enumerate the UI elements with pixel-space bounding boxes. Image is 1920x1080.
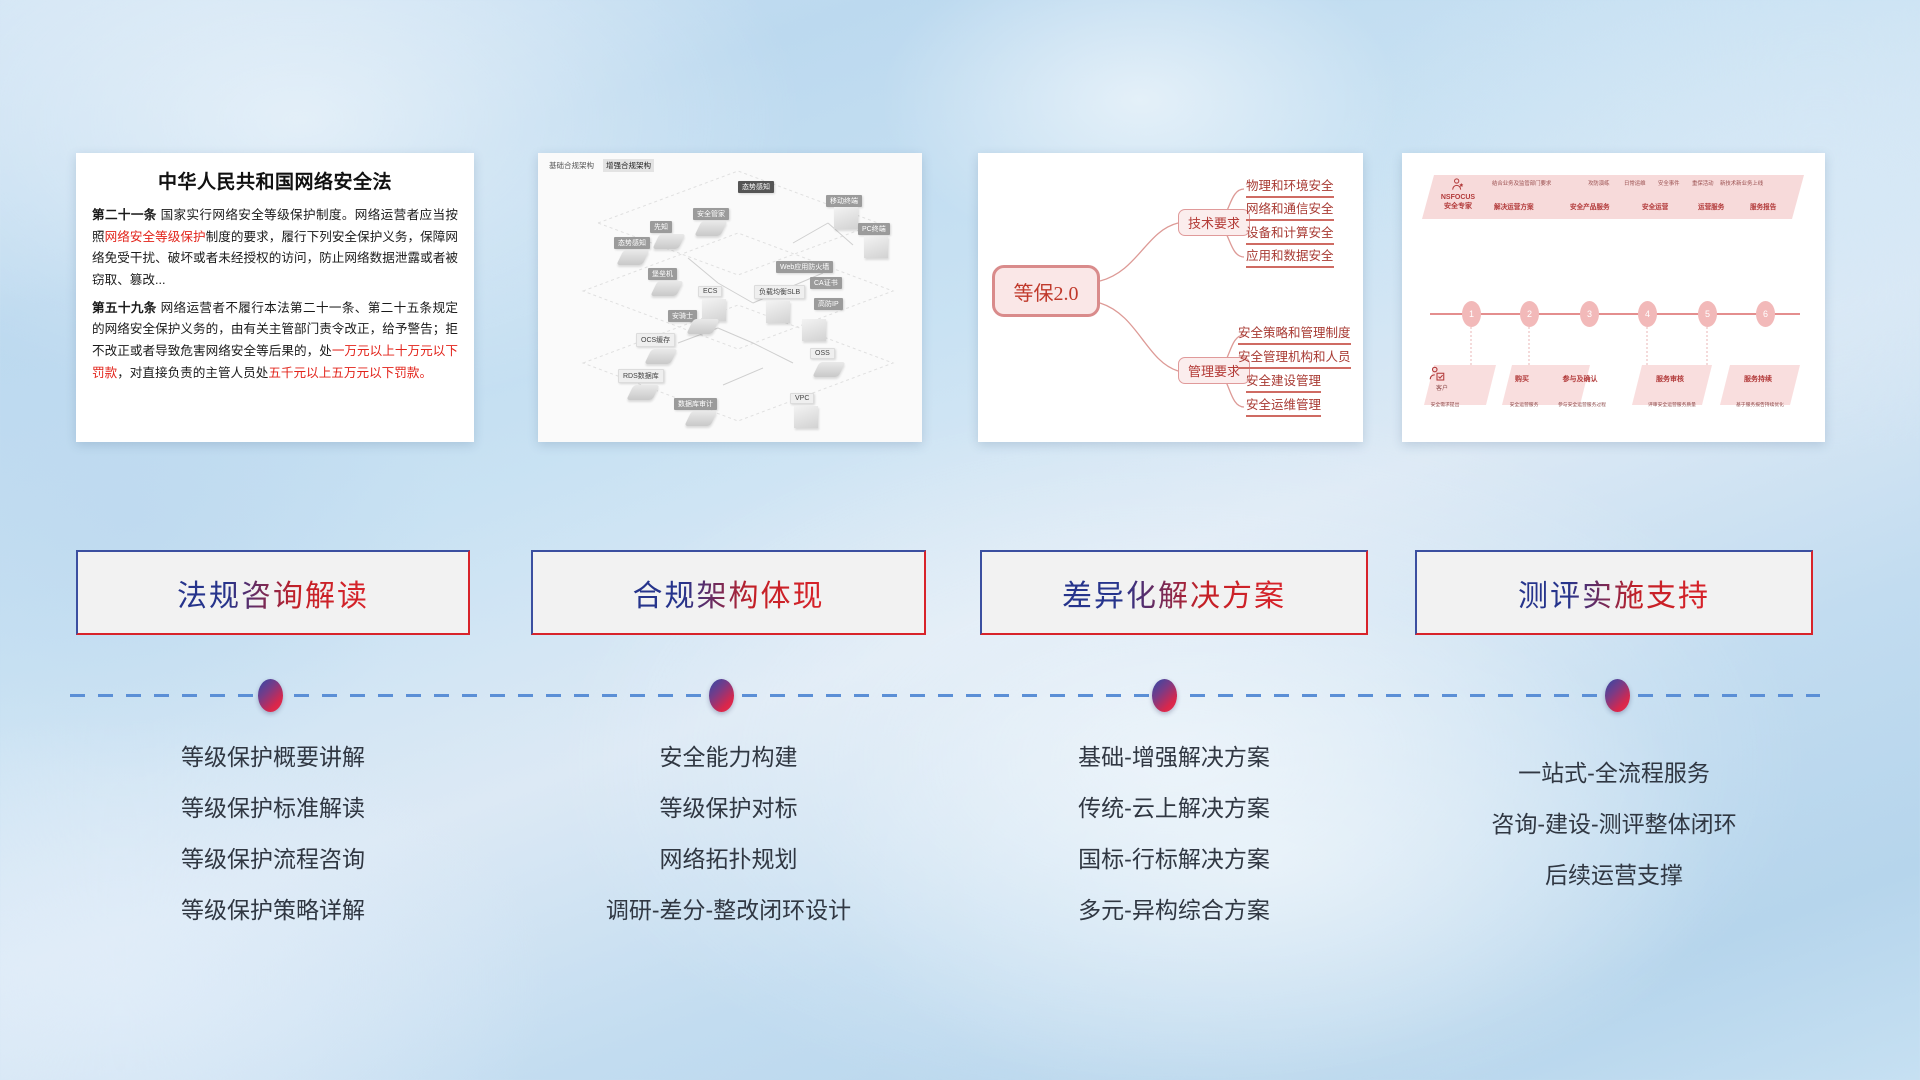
section-title-box-4[interactable]: 测评实施支持	[1415, 550, 1813, 635]
nsfocus-footer-sub: 基于服务报告持续优化	[1720, 403, 1800, 410]
mindmap-root-node: 等保2.0	[992, 265, 1100, 317]
nsfocus-footer-shape	[1720, 365, 1800, 405]
arch-node-shape	[864, 236, 888, 258]
arch-node-label: Web应用防火墙	[776, 261, 833, 273]
section-item: 等级保护对标	[531, 797, 926, 820]
article-59-text-b: ，对直接负责的主管人员处	[117, 366, 268, 380]
nsfocus-footer-sub: 安全需求提出	[1412, 403, 1478, 410]
mindmap-leaf: 设备和计算安全	[1246, 222, 1334, 245]
section-items-3: 基础-增强解决方案 传统-云上解决方案 国标-行标解决方案 多元-异构综合方案	[980, 746, 1368, 950]
arch-node-shape	[702, 299, 726, 321]
section-title-label: 法规咨询解读	[177, 571, 369, 615]
section-title-box-1[interactable]: 法规咨询解读	[76, 550, 470, 635]
mindmap-leaf: 安全建设管理	[1246, 370, 1321, 393]
arch-node-label: 移动终端	[826, 195, 862, 207]
card-architecture-diagram: 基础合规架构 增强合规架构 态势感知 安全管家	[538, 153, 922, 442]
section-items-1: 等级保护概要讲解 等级保护标准解读 等级保护流程咨询 等级保护策略详解	[76, 746, 470, 950]
arch-node-label: 高防IP	[814, 298, 843, 310]
arch-node-label: PC终端	[858, 223, 890, 235]
article-59-label: 第五十九条	[92, 301, 157, 315]
arch-node-label: RDS数据库	[618, 369, 664, 383]
section-item: 网络拓扑规划	[531, 848, 926, 871]
section-item: 后续运营支撑	[1415, 864, 1813, 887]
section-item: 多元-异构综合方案	[980, 899, 1368, 922]
section-item: 国标-行标解决方案	[980, 848, 1368, 871]
arch-node-label: 先知	[650, 221, 672, 233]
section-item: 基础-增强解决方案	[980, 746, 1368, 769]
arch-node-label: 安全管家	[693, 208, 729, 220]
mindmap-leaf: 物理和环境安全	[1246, 175, 1334, 198]
mindmap-branch-technical: 技术要求	[1178, 209, 1250, 236]
law-title: 中华人民共和国网络安全法	[92, 167, 458, 194]
section-item: 安全能力构建	[531, 746, 926, 769]
law-document-body: 中华人民共和国网络安全法 第二十一条 国家实行网络安全等级保护制度。网络运营者应…	[76, 153, 474, 394]
arch-node-shape	[766, 301, 790, 323]
mindmap-leaf: 网络和通信安全	[1246, 198, 1334, 221]
architecture-canvas: 基础合规架构 增强合规架构 态势感知 安全管家	[538, 153, 922, 442]
article-21-highlight: 网络安全等级保护	[105, 230, 206, 244]
arch-node-label: 堡垒机	[648, 268, 677, 280]
timeline-marker-4	[1605, 679, 1630, 712]
section-item: 调研-差分-整改闭环设计	[531, 899, 926, 922]
nsfocus-footer-shape	[1632, 365, 1712, 405]
arch-node-label: OCS缓存	[636, 333, 675, 347]
nsfocus-footer-title: 服务审核	[1642, 375, 1698, 385]
section-item: 等级保护流程咨询	[76, 848, 470, 871]
nsfocus-canvas: NSFOCUS 安全专家 结合业务及监管部门要求 攻防演练 日常运维 安全事件 …	[1402, 153, 1825, 442]
section-item: 一站式-全流程服务	[1415, 762, 1813, 785]
section-item: 等级保护概要讲解	[76, 746, 470, 769]
section-item: 等级保护策略详解	[76, 899, 470, 922]
section-title-label: 测评实施支持	[1518, 571, 1710, 615]
slide-stage: 中华人民共和国网络安全法 第二十一条 国家实行网络安全等级保护制度。网络运营者应…	[0, 0, 1920, 1080]
article-21-label: 第二十一条	[92, 208, 157, 222]
arch-node-label: 态势感知	[614, 237, 650, 249]
arch-node-label: ECS	[698, 286, 722, 297]
nsfocus-footer-title: 购买	[1502, 375, 1542, 385]
arch-node-label: CA证书	[810, 277, 842, 289]
section-item: 咨询-建设-测评整体闭环	[1415, 813, 1813, 836]
section-item: 等级保护标准解读	[76, 797, 470, 820]
arch-node-shape	[802, 319, 826, 341]
law-article-21: 第二十一条 国家实行网络安全等级保护制度。网络运营者应当按照网络安全等级保护制度…	[92, 205, 458, 292]
section-items-4: 一站式-全流程服务 咨询-建设-测评整体闭环 后续运营支撑	[1415, 762, 1813, 915]
arch-node-label: VPC	[790, 393, 814, 404]
arch-node-shape	[834, 207, 858, 229]
section-title-box-3[interactable]: 差异化解决方案	[980, 550, 1368, 635]
card-law-document: 中华人民共和国网络安全法 第二十一条 国家实行网络安全等级保护制度。网络运营者应…	[76, 153, 474, 442]
mindmap-leaf: 安全运维管理	[1246, 394, 1321, 417]
section-title-box-2[interactable]: 合规架构体现	[531, 550, 926, 635]
mindmap-canvas: 等保2.0 技术要求 管理要求 物理和环境安全 网络和通信安全 设备和计算安全 …	[978, 153, 1363, 442]
architecture-planes-svg	[538, 153, 922, 442]
card-nsfocus-timeline: NSFOCUS 安全专家 结合业务及监管部门要求 攻防演练 日常运维 安全事件 …	[1402, 153, 1825, 442]
user-check-icon	[1428, 365, 1446, 383]
section-items-2: 安全能力构建 等级保护对标 网络拓扑规划 调研-差分-整改闭环设计	[531, 746, 926, 950]
arch-node-label: 数据库审计	[674, 398, 717, 410]
arch-node-label: 负载均衡SLB	[754, 285, 805, 299]
section-title-label: 合规架构体现	[633, 571, 825, 615]
section-title-label: 差异化解决方案	[1062, 571, 1286, 615]
law-article-59: 第五十九条 网络运营者不履行本法第二十一条、第二十五条规定的网络安全保护义务的，…	[92, 298, 458, 385]
nsfocus-footer-sub: 评审安全运营服务质量	[1632, 403, 1712, 410]
card-mindmap: 等保2.0 技术要求 管理要求 物理和环境安全 网络和通信安全 设备和计算安全 …	[978, 153, 1363, 442]
nsfocus-footer-sub: 参与安全运营服务过程	[1542, 403, 1622, 410]
nsfocus-footer-title: 服务持续	[1730, 375, 1786, 385]
timeline-dashed-line	[70, 694, 1820, 697]
article-59-highlight-2: 五千元以上五万元以下罚款。	[268, 366, 432, 380]
mindmap-leaf: 应用和数据安全	[1246, 245, 1334, 268]
arch-node-label: OSS	[810, 348, 835, 359]
nsfocus-footer-title: 参与及确认	[1550, 375, 1610, 385]
mindmap-leaf: 安全策略和管理制度	[1238, 322, 1351, 345]
nsfocus-footer-title: 客户	[1422, 385, 1462, 393]
mindmap-leaf: 安全管理机构和人员	[1238, 346, 1351, 369]
section-item: 传统-云上解决方案	[980, 797, 1368, 820]
timeline-marker-3	[1152, 679, 1177, 712]
timeline-marker-1	[258, 679, 283, 712]
arch-node-label: 态势感知	[738, 181, 774, 193]
arch-node-shape	[794, 406, 818, 428]
timeline-marker-2	[709, 679, 734, 712]
nsfocus-footer-shape	[1502, 365, 1590, 405]
